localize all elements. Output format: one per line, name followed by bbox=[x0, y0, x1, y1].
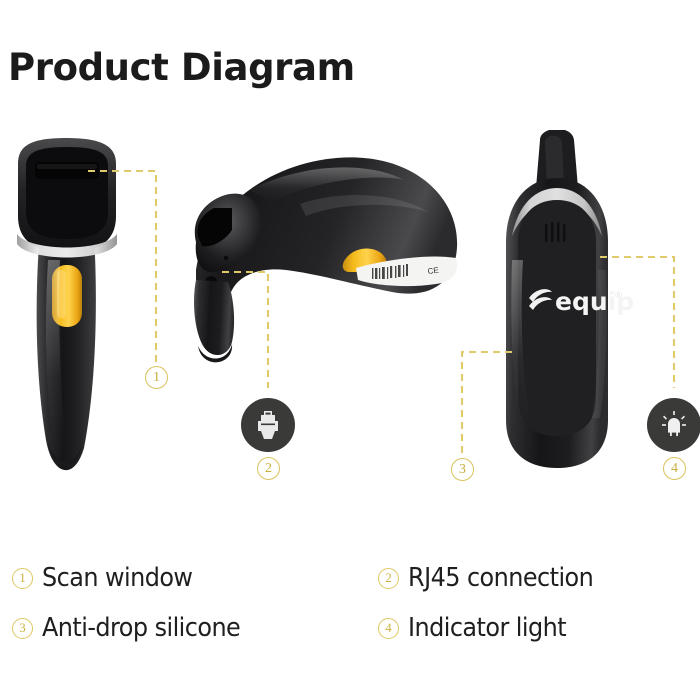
diagram-area: CE bbox=[0, 130, 700, 520]
callout-marker-3[interactable]: 3 bbox=[451, 458, 474, 481]
callout-marker-4[interactable]: 4 bbox=[663, 457, 686, 480]
diagram-illustration: CE bbox=[0, 130, 700, 520]
legend-number-1: 1 bbox=[12, 568, 33, 589]
callout-marker-1[interactable]: 1 bbox=[145, 366, 168, 389]
scanner-side-view: CE bbox=[194, 157, 457, 362]
legend-number-2: 2 bbox=[378, 568, 399, 589]
leader-line-3 bbox=[462, 352, 512, 458]
product-diagram-page: Product Diagram bbox=[0, 0, 700, 700]
scanner-front-view bbox=[17, 138, 117, 470]
legend-label-4: Indicator light bbox=[408, 613, 566, 643]
svg-text:CE: CE bbox=[427, 266, 439, 276]
legend-label-1: Scan window bbox=[42, 563, 192, 593]
callout-marker-2[interactable]: 2 bbox=[257, 457, 280, 480]
legend-item-anti-drop-silicone[interactable]: 3 Anti-drop silicone bbox=[12, 613, 257, 643]
legend-number-4: 4 bbox=[378, 618, 399, 639]
scanner-rear-view: equip ® bbox=[506, 130, 634, 468]
legend-item-rj45-connection[interactable]: 2 RJ45 connection bbox=[378, 563, 609, 593]
legend-item-scan-window[interactable]: 1 Scan window bbox=[12, 563, 206, 593]
svg-text:®: ® bbox=[614, 291, 623, 301]
legend-number-3: 3 bbox=[12, 618, 33, 639]
legend-label-3: Anti-drop silicone bbox=[42, 613, 240, 643]
rj45-connector-icon bbox=[241, 398, 295, 452]
legend-label-2: RJ45 connection bbox=[408, 563, 593, 593]
led-indicator-icon bbox=[647, 398, 700, 452]
page-title: Product Diagram bbox=[8, 46, 355, 89]
leader-line-4 bbox=[600, 257, 674, 388]
legend-item-indicator-light[interactable]: 4 Indicator light bbox=[378, 613, 580, 643]
